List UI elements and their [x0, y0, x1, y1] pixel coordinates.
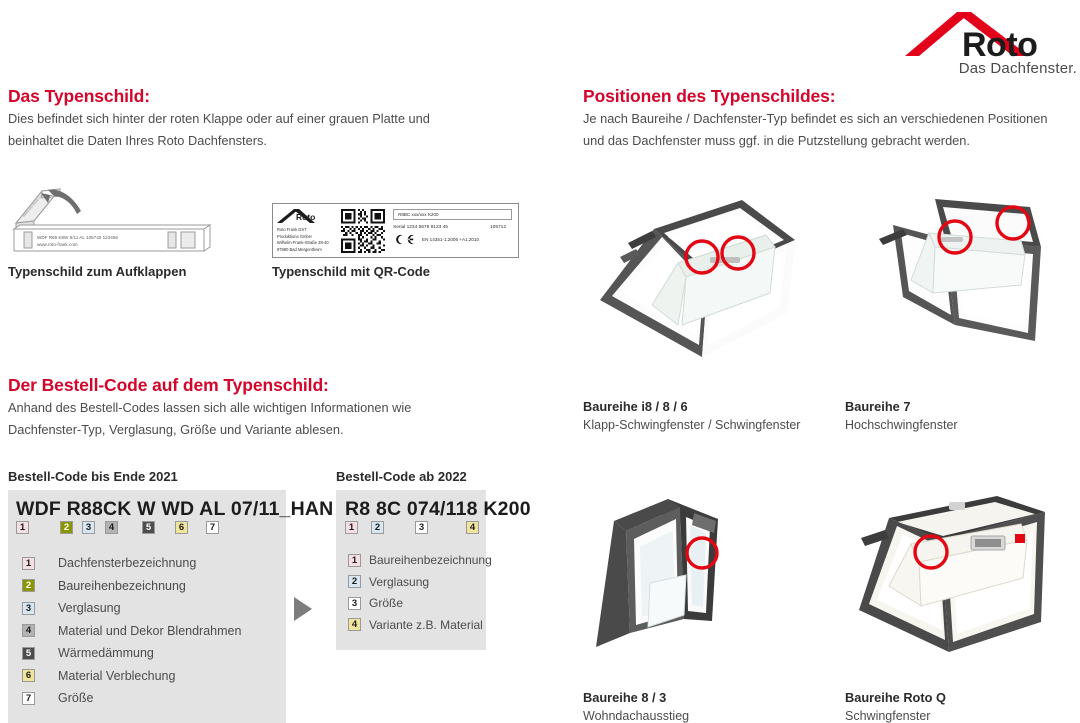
legend-item: 4Variante z.B. Material — [348, 618, 492, 632]
caption-window-2-title: Baureihe 7 — [845, 399, 958, 414]
legend-label: Baureihenbezeichnung — [369, 553, 492, 567]
qr-plate-address: Roto Frank DST Produktions GmbH Wilhelm-… — [277, 227, 334, 254]
legend-label: Material und Dekor Blendrahmen — [58, 624, 241, 638]
qr-plate-right: R8BC xxx/xxx K200 Serial 1234 5678 9123 … — [389, 204, 518, 257]
caption-window-4-title: Baureihe Roto Q — [845, 690, 946, 705]
address-line-4: 97980 Bad Mergentheim — [277, 247, 334, 254]
qr-type-code: R8BC xxx/xxx K200 — [393, 209, 512, 220]
legend-badge-3: 3 — [348, 597, 361, 610]
legend-label: Baureihenbezeichnung — [58, 579, 186, 593]
caption-window-2: Baureihe 7 Hochschwingfenster — [845, 399, 958, 432]
heading-typenschild: Das Typenschild: — [8, 86, 150, 107]
caption-window-1-subtitle: Klapp-Schwingfenster / Schwingfenster — [583, 418, 800, 432]
legend-item: 2Baureihenbezeichnung — [22, 579, 241, 593]
caption-window-3-title: Baureihe 8 / 3 — [583, 690, 689, 705]
legend-label: Wärmedämmung — [58, 646, 154, 660]
heading-bestellcode: Der Bestell-Code auf dem Typenschild: — [8, 375, 329, 396]
legend-badge-1: 1 — [22, 557, 35, 570]
qr-nameplate: Roto Roto Frank DST Produktions GmbH Wil… — [272, 203, 519, 258]
code-title-left: Bestell-Code bis Ende 2021 — [8, 469, 178, 484]
code-badge-2: 2 — [371, 521, 384, 534]
flip-nameplate-illustration: www.roto-frank.com WDF R85 K8W 9/11 AL 1… — [8, 185, 213, 260]
heading-positionen: Positionen des Typenschildes: — [583, 86, 836, 107]
caption-window-1: Baureihe i8 / 8 / 6 Klapp-Schwingfenster… — [583, 399, 800, 432]
caption-window-3-subtitle: Wohndachausstieg — [583, 709, 689, 723]
window-illustration-i8-8-6 — [590, 185, 810, 380]
window-illustration-7 — [845, 185, 1065, 380]
code-badge-6: 6 — [175, 521, 188, 534]
ce-mark-icon — [393, 234, 417, 245]
qr-ce-row: EN 14351-1:2006 +A1:2010 — [393, 234, 512, 245]
legend-badge-2: 2 — [348, 575, 361, 588]
code-legend-left: 1Dachfensterbezeichnung2Baureihenbezeich… — [22, 556, 241, 714]
legend-badge-4: 4 — [22, 624, 35, 637]
legend-item: 3Verglasung — [22, 601, 241, 615]
address-line-2: Produktions GmbH — [277, 234, 334, 241]
qr-code-graphic — [337, 204, 389, 257]
code-badge-3: 3 — [415, 521, 428, 534]
paragraph-typenschild: Dies befindet sich hinter der roten Klap… — [8, 108, 478, 152]
legend-badge-7: 7 — [22, 692, 35, 705]
legend-badge-2: 2 — [22, 579, 35, 592]
code-badge-7: 7 — [206, 521, 219, 534]
caption-window-4-subtitle: Schwingfenster — [845, 709, 946, 723]
legend-item: 4Material und Dekor Blendrahmen — [22, 624, 241, 638]
logo-claim: Das Dachfenster. — [959, 60, 1077, 77]
qr-plate-left: Roto Roto Frank DST Produktions GmbH Wil… — [273, 204, 337, 257]
legend-label: Größe — [369, 596, 403, 610]
code-badge-4: 4 — [105, 521, 118, 534]
code-badge-5: 5 — [142, 521, 155, 534]
legend-label: Dachfensterbezeichnung — [58, 556, 196, 570]
qr-plate-logo-word: Roto — [296, 212, 315, 222]
code-title-right: Bestell-Code ab 2022 — [336, 469, 467, 484]
caption-window-3: Baureihe 8 / 3 Wohndachausstieg — [583, 690, 689, 723]
legend-badge-3: 3 — [22, 602, 35, 615]
legend-badge-5: 5 — [22, 647, 35, 660]
caption-window-1-title: Baureihe i8 / 8 / 6 — [583, 399, 800, 414]
legend-label: Verglasung — [369, 575, 429, 589]
page-root: Roto Das Dachfenster. Das Typenschild: D… — [0, 0, 1080, 723]
flip-plate-line1: WDF R85 K8W 9/11 AL 105740 123456 — [37, 235, 118, 240]
caption-window-2-subtitle: Hochschwingfenster — [845, 418, 958, 432]
legend-item: 6Material Verblechung — [22, 669, 241, 683]
legend-badge-6: 6 — [22, 669, 35, 682]
legend-badge-4: 4 — [348, 618, 361, 631]
window-illustration-roto-q — [845, 482, 1060, 667]
qr-norm-text: EN 14351-1:2006 +A1:2010 — [422, 237, 479, 242]
code-badge-1: 1 — [16, 521, 29, 534]
code-badge-1: 1 — [345, 521, 358, 534]
code-badge-3: 3 — [82, 521, 95, 534]
code-badges-left: 1234567 — [16, 521, 266, 535]
legend-label: Variante z.B. Material — [369, 618, 483, 632]
caption-qr-nameplate: Typenschild mit QR-Code — [272, 264, 430, 279]
flip-plate-line2: www.roto-frank.com — [37, 242, 78, 247]
arrow-right-icon — [292, 595, 314, 623]
address-line-1: Roto Frank DST — [277, 227, 334, 234]
paragraph-bestellcode: Anhand des Bestell-Codes lassen sich all… — [8, 397, 428, 441]
legend-item: 1Baureihenbezeichnung — [348, 553, 492, 567]
logo-wordmark: Roto — [962, 28, 1037, 62]
qr-serial-label: Serial 1234 5678 9123 45 — [393, 225, 448, 230]
code-string-right: R8 8C 074/118 K200 — [345, 498, 531, 521]
window-illustration-8-3 — [590, 487, 780, 667]
legend-label: Verglasung — [58, 601, 121, 615]
qr-serial-row: Serial 1234 5678 9123 45 105712 — [393, 225, 512, 230]
legend-item: 7Größe — [22, 691, 241, 705]
code-badge-2: 2 — [60, 521, 73, 534]
code-legend-right: 1Baureihenbezeichnung2Verglasung3Größe4V… — [348, 553, 492, 639]
address-line-3: Wilhelm-Frank-Straße 38-40 — [277, 240, 334, 247]
code-string-left: WDF R88CK W WD AL 07/11_HAN — [16, 498, 333, 521]
code-badge-4: 4 — [466, 521, 479, 534]
legend-item: 3Größe — [348, 596, 492, 610]
legend-badge-1: 1 — [348, 554, 361, 567]
legend-label: Größe — [58, 691, 93, 705]
qr-serial-number: 105712 — [490, 225, 506, 230]
legend-item: 2Verglasung — [348, 575, 492, 589]
caption-window-4: Baureihe Roto Q Schwingfenster — [845, 690, 946, 723]
qr-plate-logo: Roto — [277, 208, 334, 225]
paragraph-positionen: Je nach Baureihe / Dachfenster-Typ befin… — [583, 108, 1063, 152]
code-badges-right: 1234 — [345, 521, 485, 535]
roto-logo: Roto Das Dachfenster. — [905, 12, 1077, 74]
legend-item: 1Dachfensterbezeichnung — [22, 556, 241, 570]
legend-item: 5Wärmedämmung — [22, 646, 241, 660]
legend-label: Material Verblechung — [58, 669, 175, 683]
caption-flip-nameplate: Typenschild zum Aufklappen — [8, 264, 186, 279]
